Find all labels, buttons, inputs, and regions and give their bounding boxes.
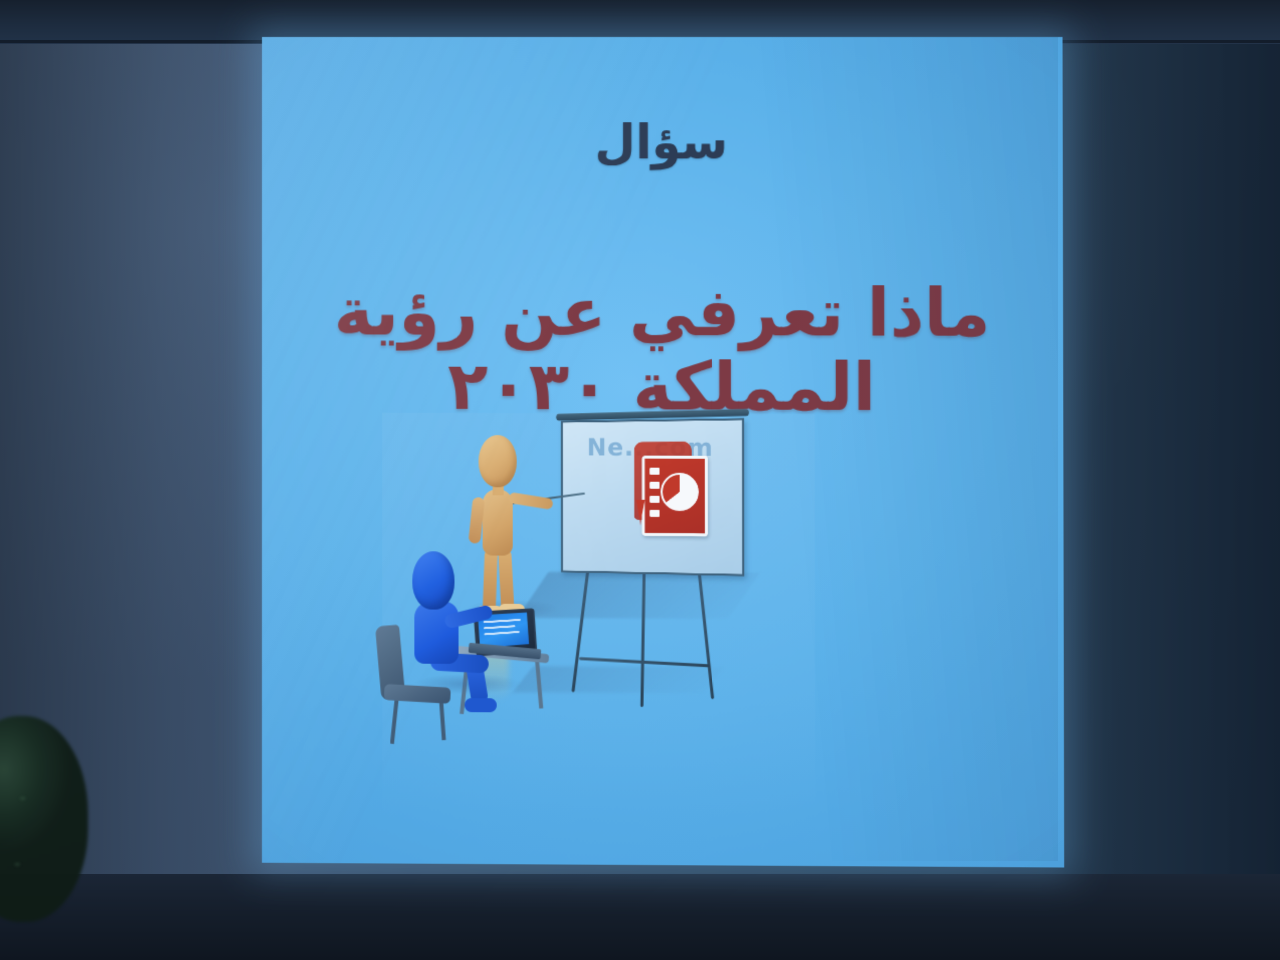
projected-slide: سؤال ماذا تعرفي عن رؤية المملكة ٢٠٣٠ Ne.… xyxy=(262,37,1064,867)
floor xyxy=(0,874,1280,960)
chair-leg-back xyxy=(439,700,446,740)
bullet-icon xyxy=(650,496,660,503)
worker-foot xyxy=(465,698,497,712)
bullet-icon xyxy=(650,482,660,489)
bullet-icon xyxy=(650,468,660,475)
flipchart-brace-shadow xyxy=(513,666,725,693)
presenter-head xyxy=(479,435,517,487)
presenter-arm-right xyxy=(508,492,553,510)
bullet-icon xyxy=(650,510,660,517)
slide-heading: سؤال xyxy=(262,119,1063,167)
worker-head xyxy=(412,551,454,609)
presentation-clipart: Ne...com xyxy=(382,413,815,817)
laptop-text-line xyxy=(484,631,520,635)
pie-chart-icon xyxy=(661,473,699,511)
presenter-leg-left xyxy=(483,549,498,612)
slide-title: ماذا تعرفي عن رؤية المملكة ٢٠٣٠ xyxy=(292,275,1033,425)
powerpoint-icon-document xyxy=(642,455,708,536)
room-scene: سؤال ماذا تعرفي عن رؤية المملكة ٢٠٣٠ Ne.… xyxy=(0,0,1280,960)
powerpoint-icon xyxy=(632,441,706,534)
presenter-leg-right xyxy=(498,549,514,612)
chair-leg-front xyxy=(390,700,399,744)
laptop-text-line xyxy=(484,625,516,629)
laptop-text-line xyxy=(483,619,520,623)
worker-torso xyxy=(414,601,458,663)
powerpoint-icon-fill xyxy=(645,459,705,534)
